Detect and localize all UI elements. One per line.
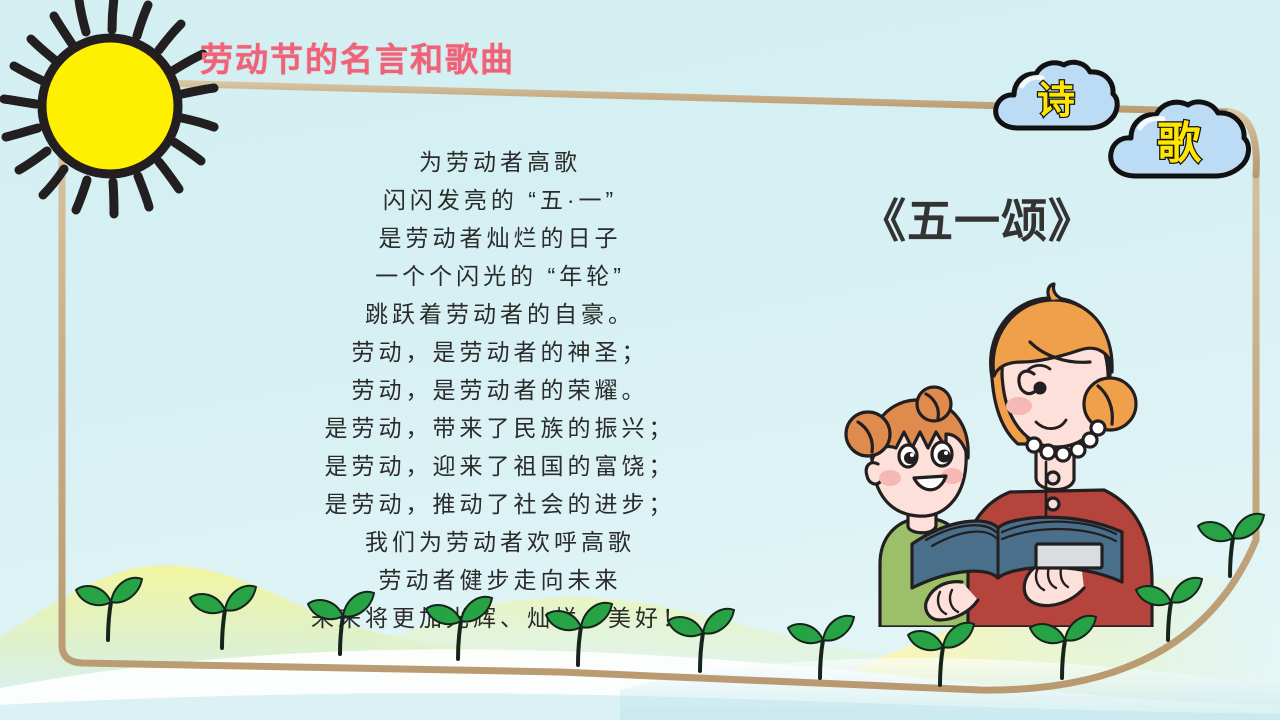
slide-canvas: 劳动节的名言和歌曲 为劳动者高歌 闪闪发亮的 “五·一” 是劳动者灿烂的日子 一… bbox=[0, 0, 1280, 720]
sprout-row bbox=[0, 0, 1280, 720]
